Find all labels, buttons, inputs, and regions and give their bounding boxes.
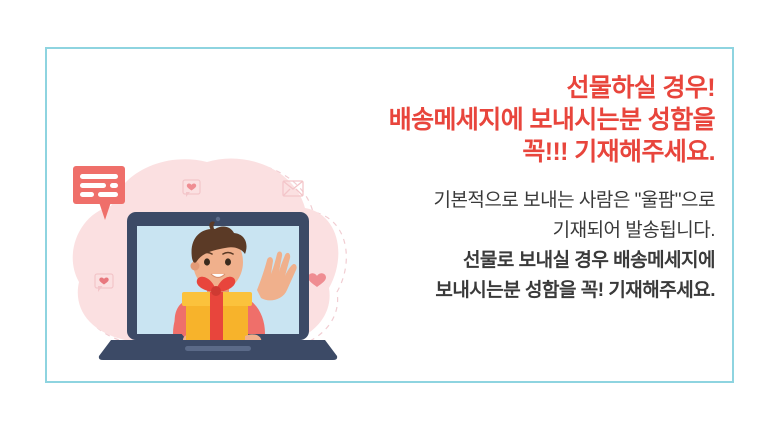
body-line-3: 선물로 보내실 경우 배송메세지에 bbox=[330, 246, 715, 276]
banner-text-column: 선물하실 경우! 배송메세지에 보내시는분 성함을 꼭!!! 기재해주세요. 기… bbox=[330, 72, 715, 306]
laptop-illustration bbox=[99, 212, 337, 360]
body-block: 기본적으로 보내는 사람은 "울팜"으로 기재되어 발송됩니다. 선물로 보내실… bbox=[330, 186, 715, 306]
body-line-2: 기재되어 발송됩니다. bbox=[330, 216, 715, 246]
promo-banner: 선물하실 경우! 배송메세지에 보내시는분 성함을 꼭!!! 기재해주세요. 기… bbox=[0, 0, 779, 435]
body-line-1: 기본적으로 보내는 사람은 "울팜"으로 bbox=[330, 186, 715, 216]
body-line-4: 보내시는분 성함을 꼭! 기재해주세요. bbox=[330, 276, 715, 306]
headline-line-2: 배송메세지에 보내시는분 성함을 bbox=[330, 104, 715, 136]
headline-line-3: 꼭!!! 기재해주세요. bbox=[330, 136, 715, 168]
headline-block: 선물하실 경우! 배송메세지에 보내시는분 성함을 꼭!!! 기재해주세요. bbox=[330, 72, 715, 168]
headline-line-1: 선물하실 경우! bbox=[330, 72, 715, 104]
illustration-person-waving-with-gift bbox=[55, 140, 355, 375]
